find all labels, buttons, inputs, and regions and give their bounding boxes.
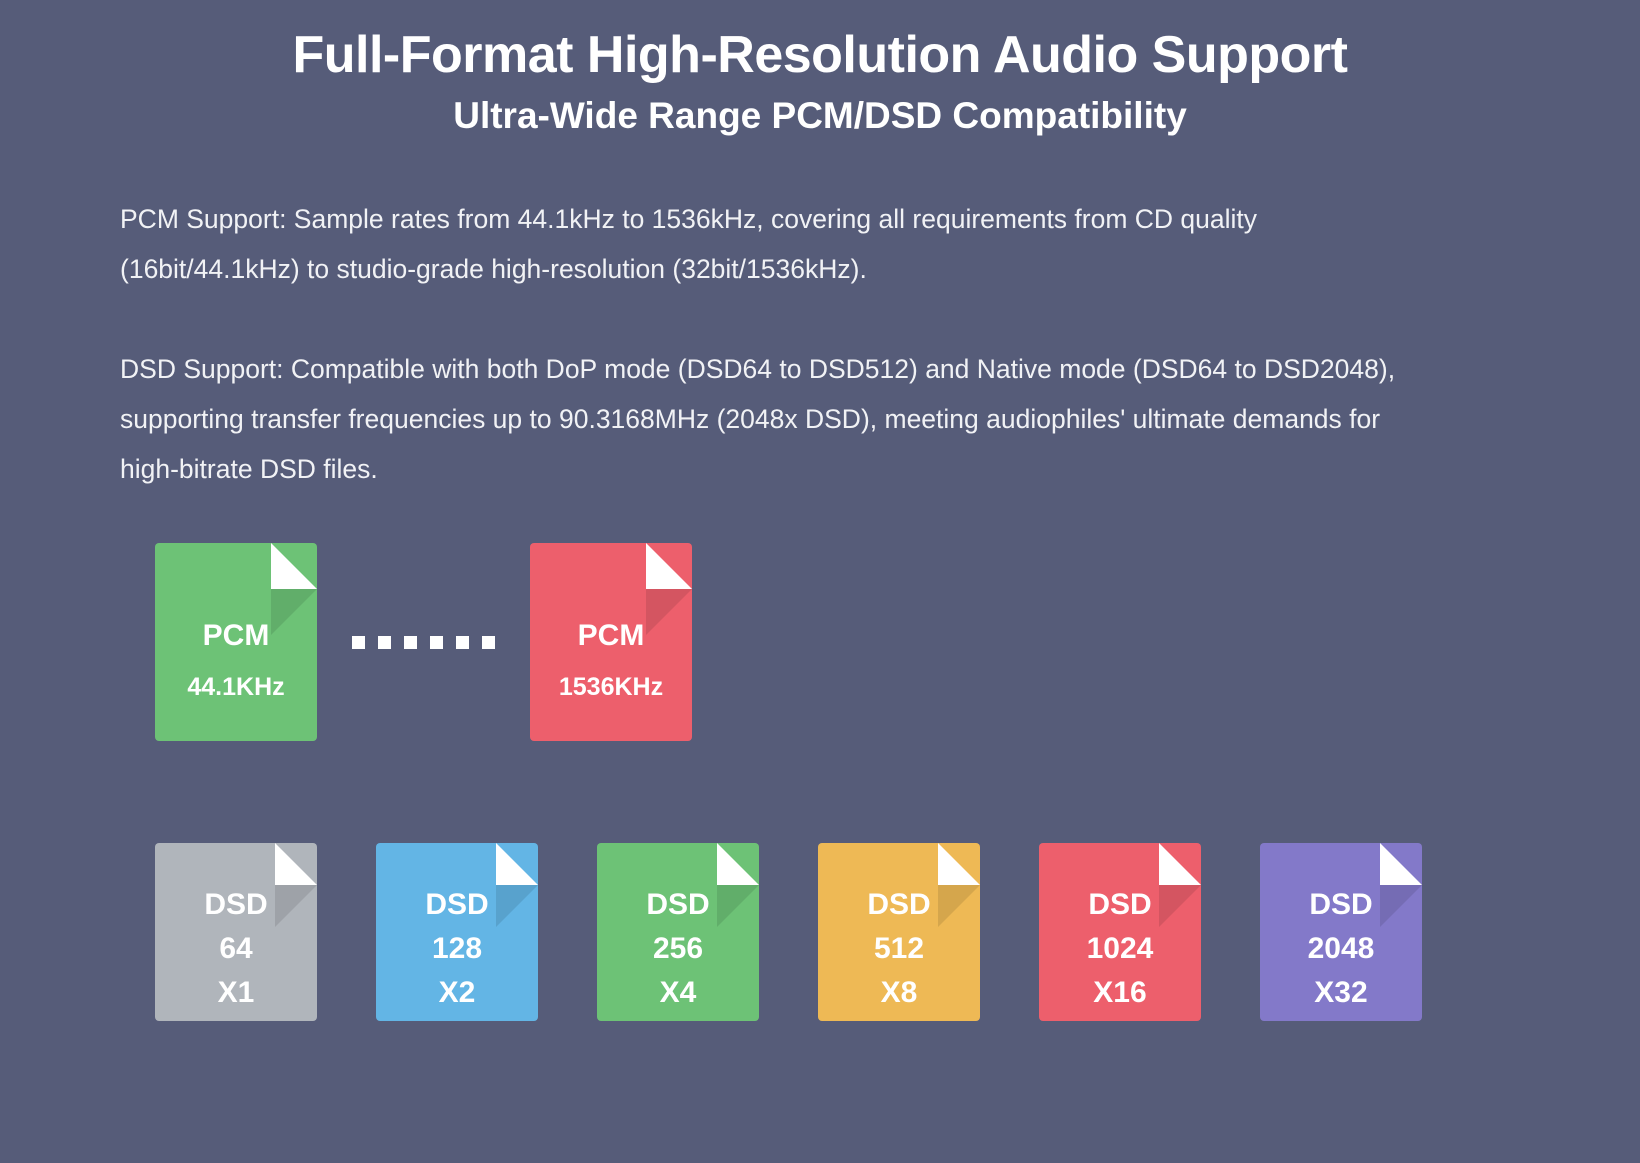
pcm-card-rate: 44.1KHz [155,675,317,700]
dsd-card-multiplier: X16 [1039,978,1201,1008]
folded-corner-icon [717,843,759,885]
dsd-card-128: DSD 128 X2 [376,843,538,1021]
dsd-card-rate: 256 [597,934,759,964]
dsd-card-rate: 128 [376,934,538,964]
dsd-card-multiplier: X4 [597,978,759,1008]
paragraph-pcm-support: PCM Support: Sample rates from 44.1kHz t… [120,194,1430,294]
body-copy: PCM Support: Sample rates from 44.1kHz t… [0,194,1640,494]
dotted-separator [317,543,530,741]
folded-corner-icon [1159,843,1201,885]
dsd-card-1024: DSD 1024 X16 [1039,843,1201,1021]
dsd-card-rate: 1024 [1039,934,1201,964]
dsd-card-multiplier: X32 [1260,978,1422,1008]
folded-corner-icon [646,543,692,589]
folded-corner-icon [938,843,980,885]
dsd-card-rate: 64 [155,934,317,964]
dsd-card-rate: 512 [818,934,980,964]
folded-corner-icon [275,843,317,885]
dsd-card-512: DSD 512 X8 [818,843,980,1021]
folded-corner-icon [1380,843,1422,885]
separator-dot [404,636,417,649]
dsd-card-rate: 2048 [1260,934,1422,964]
pcm-card-44-1khz: PCM 44.1KHz [155,543,317,741]
separator-dot [378,636,391,649]
dsd-card-name: DSD [155,890,317,920]
pcm-card-name: PCM [530,621,692,651]
pcm-card-row: PCM 44.1KHz PCM 1536KHz [155,543,692,741]
dsd-card-name: DSD [597,890,759,920]
dsd-card-name: DSD [818,890,980,920]
dsd-card-256: DSD 256 X4 [597,843,759,1021]
pcm-card-name: PCM [155,621,317,651]
dsd-card-multiplier: X2 [376,978,538,1008]
pcm-card-1536khz: PCM 1536KHz [530,543,692,741]
folded-corner-icon [271,543,317,589]
page-title: Full-Format High-Resolution Audio Suppor… [0,26,1640,86]
dsd-card-row: DSD 64 X1 DSD 128 X2 DSD 256 X4 DSD 512 … [155,843,1422,1021]
header: Full-Format High-Resolution Audio Suppor… [0,0,1640,138]
separator-dot [430,636,443,649]
page-subtitle: Ultra-Wide Range PCM/DSD Compatibility [0,94,1640,138]
dsd-card-64: DSD 64 X1 [155,843,317,1021]
pcm-card-rate: 1536KHz [530,675,692,700]
separator-dot [482,636,495,649]
dsd-card-name: DSD [1039,890,1201,920]
separator-dot [352,636,365,649]
dsd-card-2048: DSD 2048 X32 [1260,843,1422,1021]
dsd-card-multiplier: X8 [818,978,980,1008]
dsd-card-name: DSD [1260,890,1422,920]
separator-dot [456,636,469,649]
paragraph-dsd-support: DSD Support: Compatible with both DoP mo… [120,344,1430,494]
dsd-card-name: DSD [376,890,538,920]
audio-format-infographic: Full-Format High-Resolution Audio Suppor… [0,0,1640,1163]
dsd-card-multiplier: X1 [155,978,317,1008]
folded-corner-icon [496,843,538,885]
